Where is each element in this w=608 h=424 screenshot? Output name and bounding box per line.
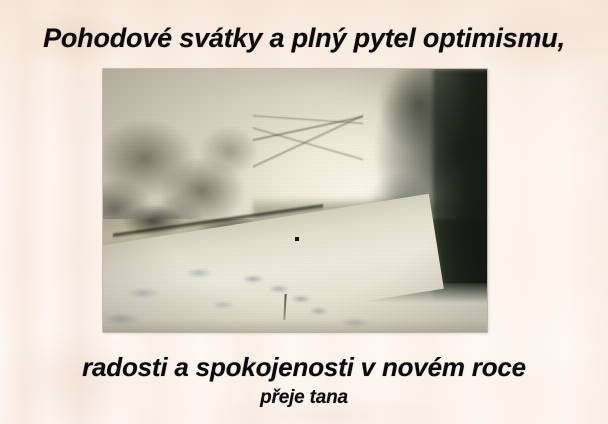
photo-grain: [103, 69, 487, 332]
winter-river-photo: [103, 69, 487, 332]
photo-canvas: [103, 69, 487, 332]
signature-line: přeje tana: [0, 387, 608, 409]
greeting-card: Pohodové svátky a plný pytel optimismu, …: [0, 0, 608, 424]
greeting-headline: Pohodové svátky a plný pytel optimismu,: [0, 23, 608, 54]
greeting-subline: radosti a spokojenosti v novém roce: [0, 352, 608, 383]
